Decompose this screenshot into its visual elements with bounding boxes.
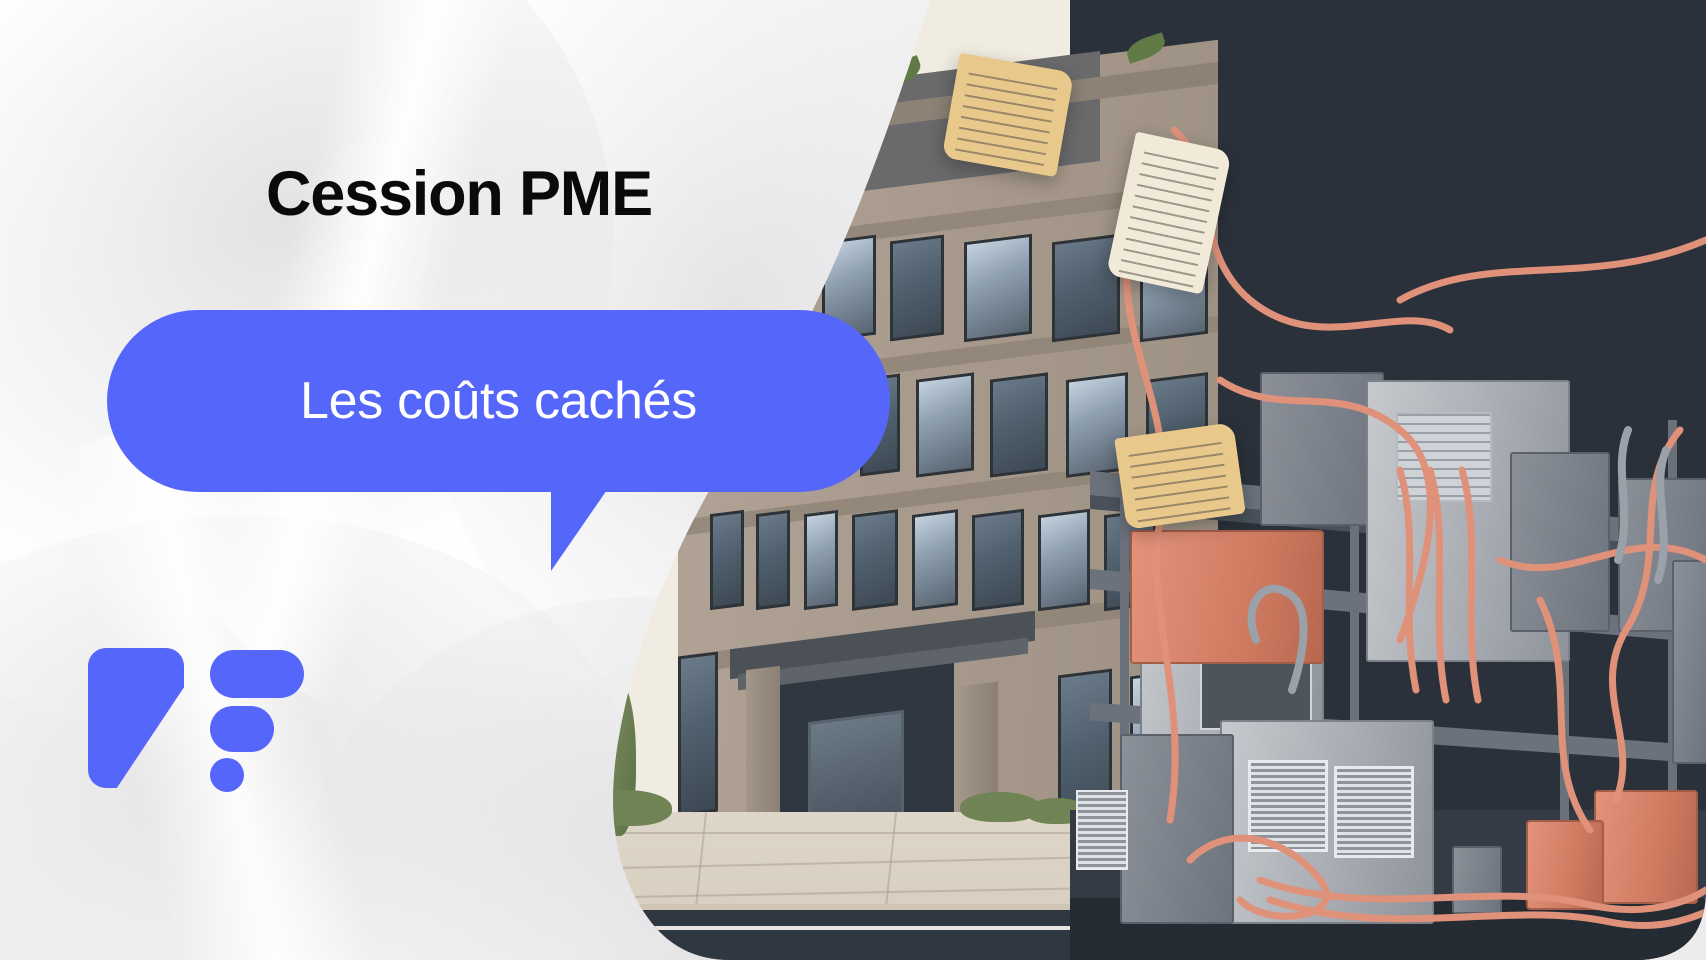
logo-bar-large-icon [210, 650, 304, 698]
building-window [972, 509, 1024, 612]
building-ground-window [678, 651, 718, 816]
page-title: Cession PME [266, 163, 652, 226]
brand-logo[interactable] [88, 648, 304, 788]
speech-bubble-text: Les coûts cachés [107, 310, 890, 492]
building-window [890, 235, 944, 342]
building-window [804, 510, 838, 610]
speech-bubble: Les coûts cachés [107, 310, 890, 492]
logo-dot-icon [210, 758, 244, 792]
building-window [990, 372, 1048, 477]
building-window [912, 509, 958, 611]
logo-bar-medium-icon [210, 706, 274, 752]
building-window [710, 510, 744, 610]
flying-paper-gold [942, 53, 1075, 178]
slide-canvas: Cession PME Les coûts cachés [0, 0, 1706, 960]
pavement-joint [560, 832, 1120, 834]
flying-paper-gold [1114, 422, 1246, 530]
logo-triangle-icon [88, 648, 184, 788]
building-window [756, 510, 790, 610]
building-window [964, 234, 1032, 343]
building-window [916, 372, 974, 477]
building-window [852, 509, 898, 611]
speech-bubble-tail [551, 487, 609, 571]
